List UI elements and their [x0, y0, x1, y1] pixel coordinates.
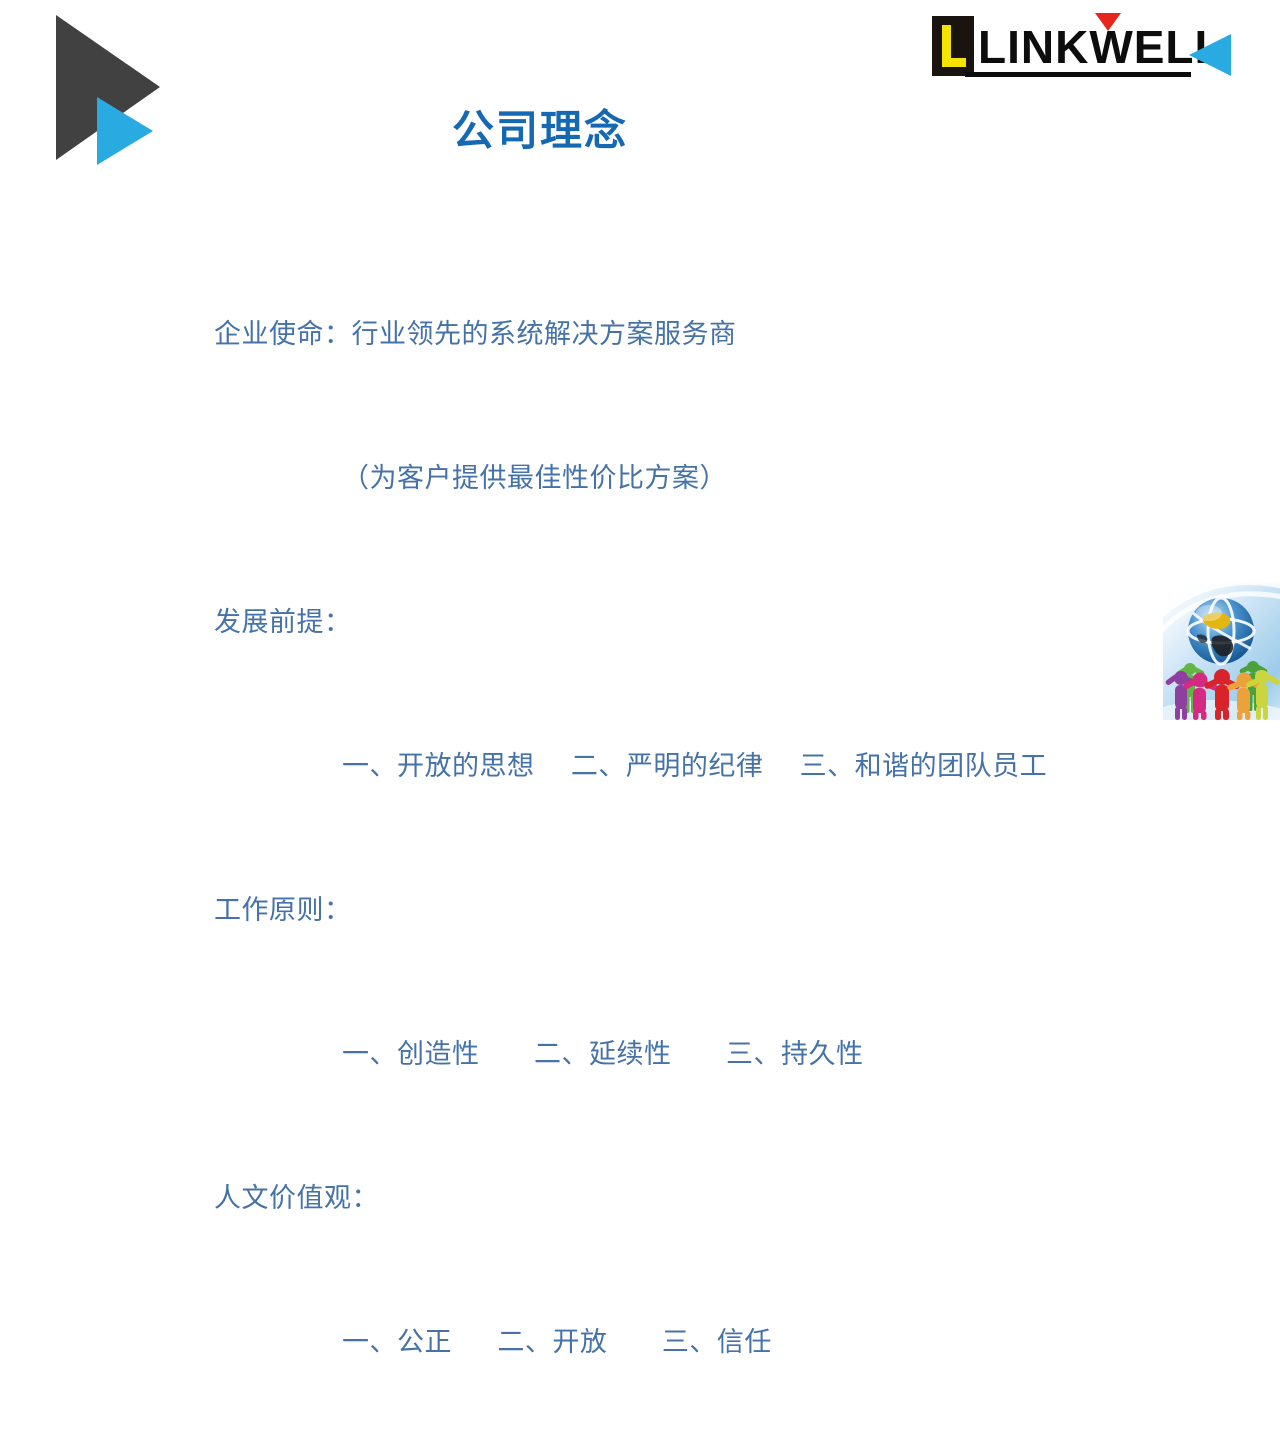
body-line-principle-heading: 工作原则： — [214, 887, 1114, 935]
globe-with-people-image — [1163, 583, 1280, 720]
globe-people-illustration-icon — [1163, 583, 1280, 720]
body-line-premise-heading: 发展前提： — [214, 599, 1114, 647]
body-line-mission: 企业使命：行业领先的系统解决方案服务商 — [214, 311, 1114, 359]
linkwell-logo: LINKWELL — [925, 8, 1245, 88]
slide-canvas: LINKWELL 公司理念 企业使命：行业领先的系统解决方案服务商 （为客户提供… — [0, 0, 1280, 720]
page-title: 公司理念 — [0, 105, 1080, 157]
logo-red-triangle-icon — [1095, 13, 1121, 31]
slide-body: 企业使命：行业领先的系统解决方案服务商 （为客户提供最佳性价比方案） 发展前提：… — [214, 215, 1114, 1440]
body-line-mission-sub: （为客户提供最佳性价比方案） — [214, 455, 1114, 503]
logo-cyan-triangle-icon — [1189, 34, 1231, 76]
logo-mark-square — [932, 16, 974, 76]
body-line-values-heading: 人文价值观： — [214, 1175, 1114, 1223]
logo-letter-l-icon — [942, 25, 966, 67]
body-line-values-items-1: 一、公正 二、开放 三、信任 — [214, 1319, 1114, 1367]
body-line-principle-items: 一、创造性 二、延续性 三、持久性 — [214, 1031, 1114, 1079]
body-line-premise-items: 一、开放的思想 二、严明的纪律 三、和谐的团队员工 — [214, 743, 1114, 791]
